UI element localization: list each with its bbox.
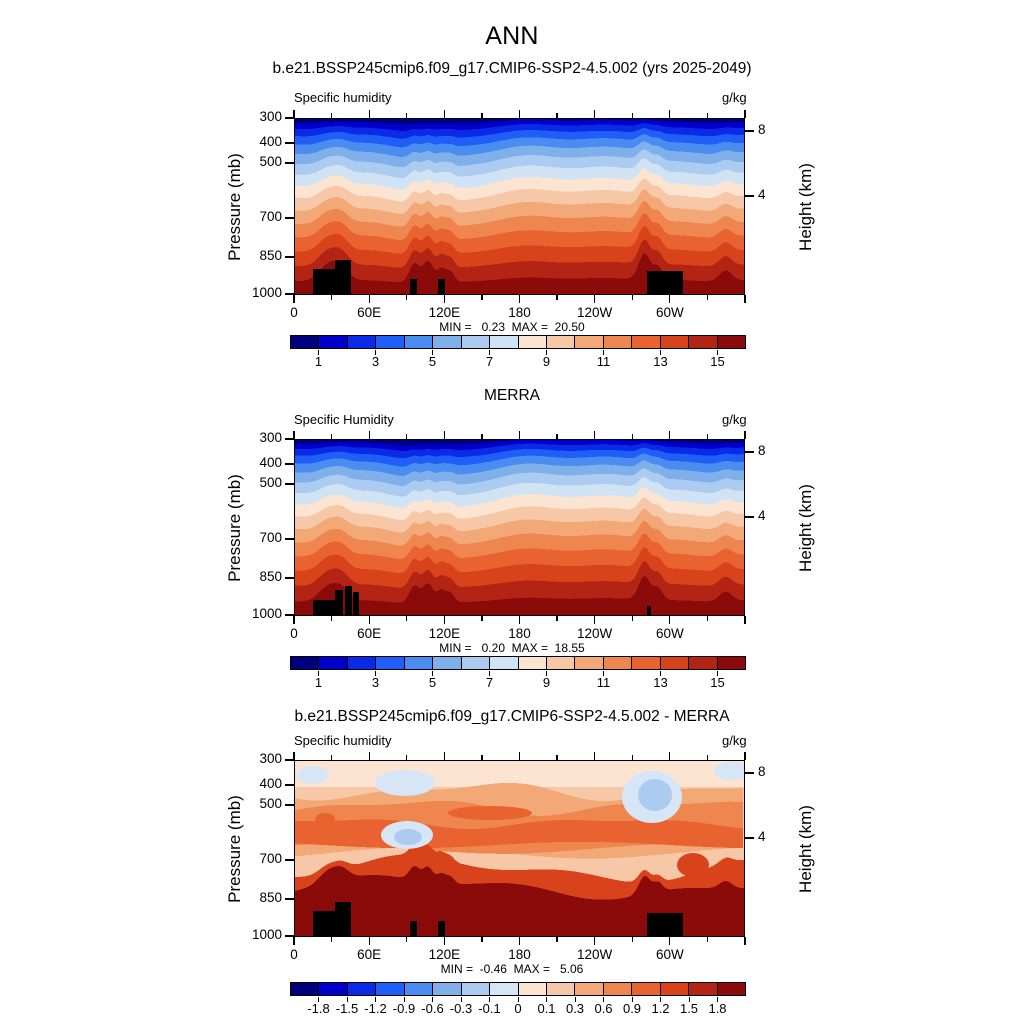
panel-1-title: b.e21.BSSP245cmip6.f09_g17.CMIP6-SSP2-4.… xyxy=(0,60,1024,78)
panel-2-units: g/kg xyxy=(722,412,747,427)
pressure-tick xyxy=(285,538,294,539)
panel-1-colorbar-labels: 13579111315 xyxy=(290,350,746,368)
pressure-tick xyxy=(285,463,294,464)
colorbar-swatch[interactable] xyxy=(689,657,717,669)
longitude-tick-minor xyxy=(556,616,557,621)
longitude-tick-label: 120E xyxy=(409,305,479,320)
colorbar-swatch[interactable] xyxy=(462,983,490,995)
colorbar-swatch[interactable] xyxy=(490,336,518,348)
colorbar-swatch[interactable] xyxy=(604,983,632,995)
longitude-tick-minor xyxy=(556,295,557,300)
panel-2-colorbar[interactable] xyxy=(290,656,746,670)
longitude-tick-top-minor xyxy=(481,755,482,760)
height-tick xyxy=(745,516,754,517)
colorbar-tick-label: -0.9 xyxy=(393,1001,415,1016)
longitude-tick-major xyxy=(669,295,670,303)
colorbar-swatch[interactable] xyxy=(519,657,547,669)
colorbar-tick-label: 15 xyxy=(710,675,724,690)
pressure-tick-label: 500 xyxy=(232,796,282,811)
colorbar-tick-label: -0.3 xyxy=(450,1001,472,1016)
colorbar-swatch[interactable] xyxy=(348,983,376,995)
longitude-tick-top-minor xyxy=(632,434,633,439)
colorbar-swatch[interactable] xyxy=(661,657,689,669)
longitude-tick-top xyxy=(293,752,294,760)
pressure-tick-label: 700 xyxy=(232,851,282,866)
longitude-tick-minor xyxy=(632,616,633,621)
longitude-tick-top xyxy=(669,110,670,118)
topography-mask xyxy=(647,606,651,616)
longitude-tick-top-minor xyxy=(632,113,633,118)
pressure-tick-label: 1000 xyxy=(232,285,282,300)
panel-3-colorbar[interactable] xyxy=(290,982,746,996)
panel-3-y2-axis-label: Height (km) xyxy=(796,759,816,939)
longitude-tick-label: 120W xyxy=(560,305,630,320)
longitude-tick-top-minor xyxy=(707,755,708,760)
topography-mask xyxy=(335,902,351,937)
longitude-tick-minor xyxy=(406,616,407,621)
longitude-tick-label: 60E xyxy=(334,626,404,641)
colorbar-tick-label: 3 xyxy=(372,675,379,690)
pressure-tick-label: 400 xyxy=(232,455,282,470)
longitude-tick-major xyxy=(519,937,520,945)
longitude-tick-top xyxy=(444,431,445,439)
colorbar-swatch[interactable] xyxy=(405,657,433,669)
pressure-tick xyxy=(285,577,294,578)
longitude-tick-top xyxy=(293,431,294,439)
longitude-tick-label: 180 xyxy=(485,305,555,320)
longitude-tick-minor xyxy=(481,295,482,300)
colorbar-swatch[interactable] xyxy=(490,657,518,669)
longitude-tick-major xyxy=(444,295,445,303)
longitude-tick-top xyxy=(744,110,745,118)
colorbar-tick-label: 0 xyxy=(514,1001,521,1016)
colorbar-swatch[interactable] xyxy=(376,983,404,995)
longitude-tick-top xyxy=(669,752,670,760)
colorbar-swatch[interactable] xyxy=(490,983,518,995)
longitude-tick-major xyxy=(293,937,294,945)
pressure-tick-label: 850 xyxy=(232,248,282,263)
topography-mask xyxy=(438,921,445,937)
height-tick-label: 4 xyxy=(758,187,798,202)
topography-mask xyxy=(335,590,343,616)
longitude-tick-minor xyxy=(556,937,557,942)
colorbar-swatch[interactable] xyxy=(291,983,319,995)
colorbar-tick-label: -1.2 xyxy=(364,1001,386,1016)
colorbar-swatch[interactable] xyxy=(575,657,603,669)
colorbar-tick-label: 0.9 xyxy=(623,1001,641,1016)
longitude-tick-top-minor xyxy=(707,434,708,439)
height-tick xyxy=(745,130,754,131)
topography-mask xyxy=(410,279,417,295)
height-tick-label: 4 xyxy=(758,829,798,844)
colorbar-swatch[interactable] xyxy=(547,657,575,669)
colorbar-tick-label: -0.6 xyxy=(421,1001,443,1016)
topography-mask xyxy=(345,586,352,616)
pressure-tick-label: 700 xyxy=(232,209,282,224)
panel-2-title: MERRA xyxy=(0,387,1024,405)
pressure-tick xyxy=(285,483,294,484)
longitude-tick-major xyxy=(444,616,445,624)
longitude-tick-label: 0 xyxy=(259,947,329,962)
pressure-tick xyxy=(285,256,294,257)
pressure-tick-label: 500 xyxy=(232,154,282,169)
colorbar-tick-label: 11 xyxy=(597,675,611,690)
figure-canvas: ANN b.e21.BSSP245cmip6.f09_g17.CMIP6-SSP… xyxy=(0,0,1024,1024)
super-title: ANN xyxy=(0,22,1024,51)
colorbar-tick-label: 1 xyxy=(315,675,322,690)
panel-1-colorbar[interactable] xyxy=(290,335,746,349)
colorbar-tick-label: 5 xyxy=(429,675,436,690)
colorbar-swatch[interactable] xyxy=(319,657,347,669)
colorbar-swatch[interactable] xyxy=(575,336,603,348)
colorbar-swatch[interactable] xyxy=(348,336,376,348)
colorbar-tick-label: 9 xyxy=(543,354,550,369)
colorbar-tick-label: 1.8 xyxy=(708,1001,726,1016)
longitude-tick-top xyxy=(744,431,745,439)
topography-mask xyxy=(438,279,445,295)
colorbar-tick-label: 3 xyxy=(372,354,379,369)
panel-2-colorbar-labels: 13579111315 xyxy=(290,671,746,689)
longitude-tick-label: 0 xyxy=(259,305,329,320)
colorbar-swatch[interactable] xyxy=(718,657,745,669)
colorbar-swatch[interactable] xyxy=(462,336,490,348)
longitude-tick-major xyxy=(444,937,445,945)
pressure-tick xyxy=(285,804,294,805)
longitude-tick-top xyxy=(669,431,670,439)
longitude-tick-major xyxy=(744,295,745,303)
height-tick xyxy=(745,195,754,196)
panel-2-minmax: MIN = 0.20 MAX = 18.55 xyxy=(0,641,1024,655)
colorbar-tick-label: 13 xyxy=(653,675,667,690)
longitude-tick-major xyxy=(594,616,595,624)
longitude-tick-label: 60E xyxy=(334,305,404,320)
warm-core-central xyxy=(448,806,532,820)
pressure-tick xyxy=(285,784,294,785)
longitude-tick-major xyxy=(594,937,595,945)
longitude-tick-top xyxy=(444,752,445,760)
colorbar-swatch[interactable] xyxy=(575,983,603,995)
longitude-tick-major xyxy=(293,295,294,303)
longitude-tick-top-minor xyxy=(632,755,633,760)
longitude-tick-label: 120W xyxy=(560,626,630,641)
longitude-tick-minor xyxy=(406,295,407,300)
longitude-tick-top xyxy=(519,110,520,118)
colorbar-swatch[interactable] xyxy=(632,336,660,348)
longitude-tick-major xyxy=(369,616,370,624)
longitude-tick-major xyxy=(744,616,745,624)
colorbar-tick-label: 7 xyxy=(486,354,493,369)
colorbar-swatch[interactable] xyxy=(433,336,461,348)
colorbar-tick-label: -0.1 xyxy=(478,1001,500,1016)
longitude-tick-minor xyxy=(707,295,708,300)
pressure-tick-label: 400 xyxy=(232,134,282,149)
colorbar-swatch[interactable] xyxy=(291,657,319,669)
colorbar-swatch[interactable] xyxy=(661,983,689,995)
longitude-tick-major xyxy=(369,295,370,303)
longitude-tick-top-minor xyxy=(481,434,482,439)
longitude-tick-major xyxy=(519,295,520,303)
panel-3-plot xyxy=(294,760,745,937)
colorbar-tick-label: 1.2 xyxy=(651,1001,669,1016)
colorbar-swatch[interactable] xyxy=(547,983,575,995)
longitude-tick-top xyxy=(369,752,370,760)
pressure-tick-label: 300 xyxy=(232,109,282,124)
pressure-tick-label: 300 xyxy=(232,751,282,766)
longitude-tick-minor xyxy=(632,295,633,300)
pressure-tick-label: 300 xyxy=(232,430,282,445)
height-tick-label: 8 xyxy=(758,443,798,458)
longitude-tick-label: 60W xyxy=(635,305,705,320)
height-tick-label: 8 xyxy=(758,764,798,779)
colorbar-swatch[interactable] xyxy=(632,983,660,995)
colorbar-swatch[interactable] xyxy=(433,657,461,669)
colorbar-swatch[interactable] xyxy=(348,657,376,669)
longitude-tick-major xyxy=(293,616,294,624)
panel-3-colorbar-labels: -1.8-1.5-1.2-0.9-0.6-0.3-0.100.10.30.60.… xyxy=(290,997,746,1015)
pressure-tick-label: 1000 xyxy=(232,927,282,942)
colorbar-swatch[interactable] xyxy=(718,336,745,348)
colorbar-swatch[interactable] xyxy=(433,983,461,995)
negative-patch-far-left xyxy=(297,766,329,784)
longitude-tick-top xyxy=(444,110,445,118)
colorbar-swatch[interactable] xyxy=(547,336,575,348)
panel-2-y2-axis-label: Height (km) xyxy=(796,438,816,618)
longitude-tick-minor xyxy=(331,616,332,621)
colorbar-tick-label: 7 xyxy=(486,675,493,690)
longitude-tick-top xyxy=(594,431,595,439)
height-tick xyxy=(745,451,754,452)
colorbar-swatch[interactable] xyxy=(405,983,433,995)
colorbar-swatch[interactable] xyxy=(519,983,547,995)
colorbar-tick-label: 15 xyxy=(710,354,724,369)
longitude-tick-minor xyxy=(481,616,482,621)
longitude-tick-minor xyxy=(632,937,633,942)
colorbar-tick-label: 1.5 xyxy=(680,1001,698,1016)
colorbar-swatch[interactable] xyxy=(376,336,404,348)
longitude-tick-top xyxy=(519,431,520,439)
longitude-tick-major xyxy=(369,937,370,945)
longitude-tick-label: 60W xyxy=(635,947,705,962)
longitude-tick-top-minor xyxy=(331,755,332,760)
colorbar-swatch[interactable] xyxy=(462,657,490,669)
pressure-tick-label: 1000 xyxy=(232,606,282,621)
negative-patch-mid-core xyxy=(394,829,422,845)
longitude-tick-minor xyxy=(406,937,407,942)
longitude-tick-top-minor xyxy=(556,113,557,118)
longitude-tick-top-minor xyxy=(406,113,407,118)
colorbar-swatch[interactable] xyxy=(632,657,660,669)
longitude-tick-major xyxy=(669,616,670,624)
longitude-tick-label: 60E xyxy=(334,947,404,962)
topography-mask xyxy=(353,592,359,616)
colorbar-swatch[interactable] xyxy=(291,336,319,348)
pressure-tick-label: 500 xyxy=(232,475,282,490)
height-tick-label: 8 xyxy=(758,122,798,137)
longitude-tick-label: 180 xyxy=(485,947,555,962)
longitude-tick-major xyxy=(744,937,745,945)
panel-3-title: b.e21.BSSP245cmip6.f09_g17.CMIP6-SSP2-4.… xyxy=(0,708,1024,726)
colorbar-tick-label: 0.3 xyxy=(566,1001,584,1016)
longitude-tick-top xyxy=(369,431,370,439)
topography-mask xyxy=(647,913,683,937)
longitude-tick-top xyxy=(744,752,745,760)
colorbar-swatch[interactable] xyxy=(661,336,689,348)
difference-upper-band xyxy=(295,761,745,787)
pressure-tick xyxy=(285,859,294,860)
longitude-tick-major xyxy=(669,937,670,945)
colorbar-swatch[interactable] xyxy=(405,336,433,348)
topography-mask xyxy=(410,921,417,937)
longitude-tick-major xyxy=(594,295,595,303)
colorbar-tick-label: 0.6 xyxy=(594,1001,612,1016)
panel-3-units: g/kg xyxy=(722,733,747,748)
negative-patch-upper-right-core xyxy=(638,779,672,811)
panel-2-plot xyxy=(294,439,745,616)
colorbar-tick-label: -1.8 xyxy=(307,1001,329,1016)
colorbar-tick-label: 11 xyxy=(597,354,611,369)
longitude-tick-label: 180 xyxy=(485,626,555,641)
longitude-tick-top xyxy=(594,110,595,118)
negative-patch-upper-left xyxy=(375,770,435,796)
colorbar-tick-label: 13 xyxy=(653,354,667,369)
pressure-tick xyxy=(285,217,294,218)
longitude-tick-top xyxy=(293,110,294,118)
height-tick xyxy=(745,837,754,838)
colorbar-swatch[interactable] xyxy=(604,657,632,669)
longitude-tick-minor xyxy=(331,295,332,300)
panel-1-variable-label: Specific humidity xyxy=(294,90,392,105)
panel-1-y2-axis-label: Height (km) xyxy=(796,117,816,297)
warm-core-right xyxy=(677,853,709,877)
longitude-tick-minor xyxy=(707,937,708,942)
height-tick xyxy=(745,772,754,773)
longitude-tick-label: 60W xyxy=(635,626,705,641)
longitude-tick-major xyxy=(519,616,520,624)
longitude-tick-top-minor xyxy=(331,113,332,118)
panel-3-minmax: MIN = -0.46 MAX = 5.06 xyxy=(0,962,1024,976)
longitude-tick-minor xyxy=(481,937,482,942)
topography-mask xyxy=(647,271,683,295)
colorbar-swatch[interactable] xyxy=(718,983,745,995)
pressure-tick xyxy=(285,162,294,163)
longitude-tick-top-minor xyxy=(707,113,708,118)
longitude-tick-top-minor xyxy=(556,755,557,760)
colorbar-swatch[interactable] xyxy=(519,336,547,348)
longitude-tick-label: 120W xyxy=(560,947,630,962)
colorbar-swatch[interactable] xyxy=(319,336,347,348)
panel-1-plot xyxy=(294,118,745,295)
longitude-tick-minor xyxy=(707,616,708,621)
longitude-tick-top xyxy=(594,752,595,760)
longitude-tick-label: 120E xyxy=(409,626,479,641)
longitude-tick-label: 0 xyxy=(259,626,329,641)
pressure-tick-label: 700 xyxy=(232,530,282,545)
colorbar-swatch[interactable] xyxy=(319,983,347,995)
panel-3-variable-label: Specific humidity xyxy=(294,733,392,748)
colorbar-tick-label: 9 xyxy=(543,675,550,690)
colorbar-swatch[interactable] xyxy=(689,983,717,995)
longitude-tick-top xyxy=(519,752,520,760)
longitude-tick-minor xyxy=(331,937,332,942)
longitude-tick-top-minor xyxy=(556,434,557,439)
panel-2-variable-label: Specific Humidity xyxy=(294,412,394,427)
pressure-tick-label: 850 xyxy=(232,569,282,584)
colorbar-tick-label: 1 xyxy=(315,354,322,369)
colorbar-swatch[interactable] xyxy=(376,657,404,669)
longitude-tick-top-minor xyxy=(406,755,407,760)
colorbar-tick-label: 5 xyxy=(429,354,436,369)
colorbar-tick-label: 0.1 xyxy=(537,1001,555,1016)
longitude-tick-label: 120E xyxy=(409,947,479,962)
pressure-tick xyxy=(285,898,294,899)
height-tick-label: 4 xyxy=(758,508,798,523)
panel-1-units: g/kg xyxy=(722,90,747,105)
longitude-tick-top-minor xyxy=(406,434,407,439)
colorbar-tick-label: -1.5 xyxy=(336,1001,358,1016)
colorbar-swatch[interactable] xyxy=(689,336,717,348)
panel-1-minmax: MIN = 0.23 MAX = 20.50 xyxy=(0,320,1024,334)
pressure-tick-label: 400 xyxy=(232,776,282,791)
longitude-tick-top-minor xyxy=(331,434,332,439)
pressure-tick-label: 850 xyxy=(232,890,282,905)
pressure-tick xyxy=(285,142,294,143)
longitude-tick-top-minor xyxy=(481,113,482,118)
colorbar-swatch[interactable] xyxy=(604,336,632,348)
topography-mask xyxy=(335,260,351,295)
longitude-tick-top xyxy=(369,110,370,118)
warm-core-left xyxy=(315,813,335,825)
